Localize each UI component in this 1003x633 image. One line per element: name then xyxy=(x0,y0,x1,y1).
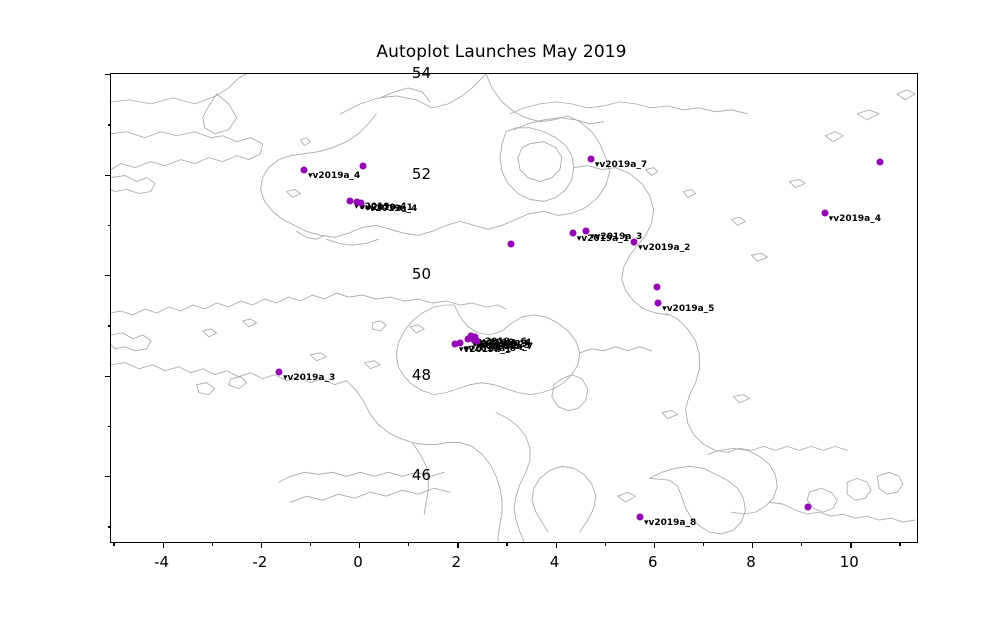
x-tick-label: 0 xyxy=(353,553,363,571)
y-tick-label: 46 xyxy=(412,466,431,484)
figure-canvas: Autoplot Launches May 2019 xyxy=(0,0,1003,633)
x-tick-label: -4 xyxy=(154,553,169,571)
y-tick-label: 54 xyxy=(412,64,431,82)
page-title: Autoplot Launches May 2019 xyxy=(0,42,1003,62)
x-tick-label: -2 xyxy=(252,553,267,571)
y-axis-tick-labels: 4648505254 xyxy=(110,73,918,543)
x-tick-label: 6 xyxy=(648,553,658,571)
x-tick-label: 4 xyxy=(550,553,560,571)
x-tick-label: 8 xyxy=(746,553,756,571)
y-tick-label: 48 xyxy=(412,366,431,384)
x-tick-label: 2 xyxy=(452,553,462,571)
y-tick-label: 52 xyxy=(412,165,431,183)
x-tick-label: 10 xyxy=(840,553,859,571)
y-tick-label: 50 xyxy=(412,265,431,283)
